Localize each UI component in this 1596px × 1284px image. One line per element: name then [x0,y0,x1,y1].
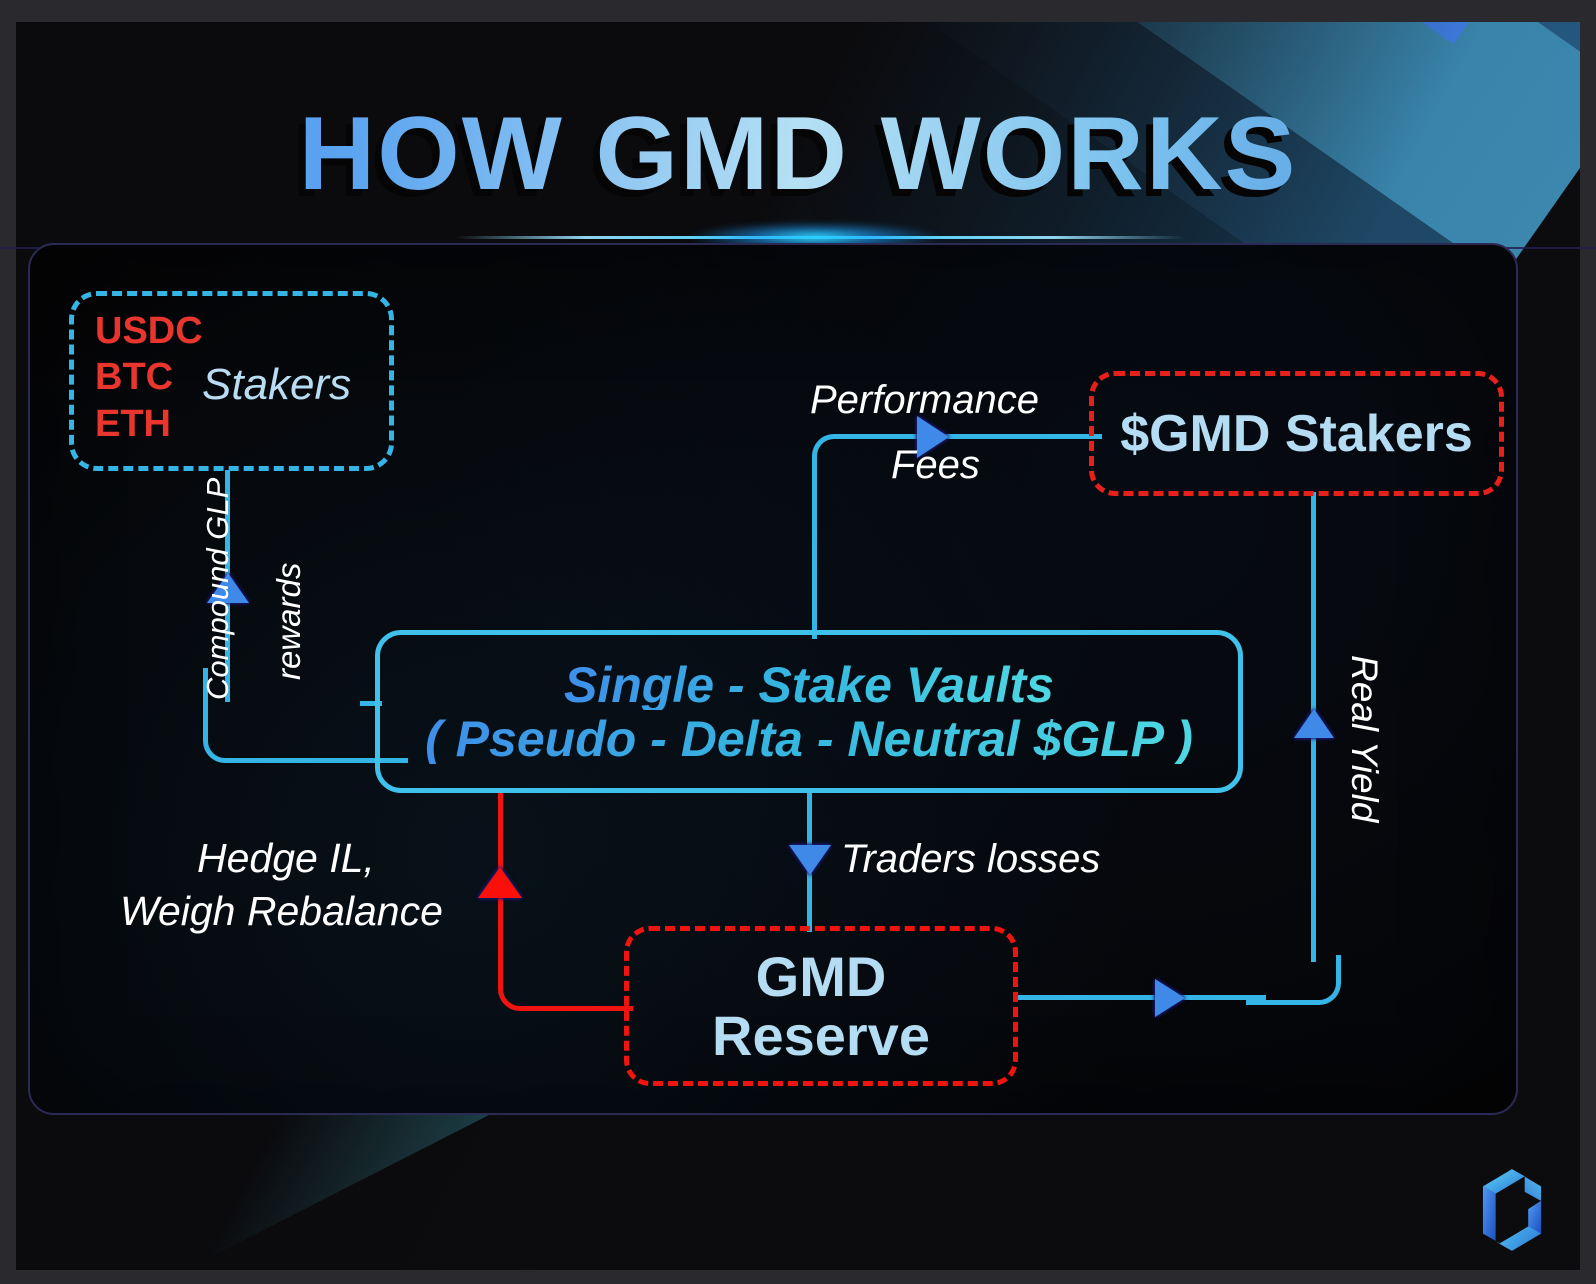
edge-hedge-il-corner [498,926,633,1011]
gmd-stakers-label: $GMD Stakers [1120,404,1473,464]
vault-label-line1: Single - Stake Vaults [564,660,1054,710]
edge-label-compound-glp: Compound GLP [200,478,236,700]
vault-label-line2: ( Pseudo - Delta - Neutral $GLP ) [425,714,1193,764]
node-gmd-stakers[interactable]: $GMD Stakers [1089,371,1504,496]
page-title: HOW GMD WORKS [0,95,1596,214]
edge-label-weigh-rebalance: Weigh Rebalance [120,888,443,935]
arrow-up-real-yield [1294,709,1334,738]
frame-top [0,0,1596,22]
token-btc: BTC [95,354,203,400]
node-single-stake-vaults[interactable]: Single - Stake Vaults ( Pseudo - Delta -… [375,630,1243,793]
edge-label-fees: Fees [891,443,980,488]
frame-bottom [0,1270,1596,1284]
edge-real-yield-corner [1246,955,1341,1005]
stakers-token-list: USDC BTC ETH [95,308,203,447]
edge-performance-fees-horizontal [880,434,1102,439]
token-eth: ETH [95,401,203,447]
node-gmd-reserve[interactable]: GMD Reserve [624,926,1018,1086]
arrow-right-real-yield [1155,979,1185,1017]
gmd-hexagon-logo [1466,1161,1558,1259]
token-usdc: USDC [95,308,203,354]
edge-real-yield-horizontal [1013,995,1266,1000]
infographic-root: HOW GMD WORKS HOW GMD WORKS Compound GLP… [0,0,1596,1284]
stakers-label: Stakers [202,360,351,410]
edge-label-traders-losses: Traders losses [841,837,1100,882]
arrow-up-hedge-il [478,867,522,898]
reserve-label-line1: GMD [756,947,887,1006]
edge-label-real-yield: Real Yield [1343,655,1385,822]
edge-label-rewards: rewards [270,563,308,680]
reserve-label-line2: Reserve [712,1006,930,1065]
edge-label-hedge-il: Hedge IL, [197,835,375,882]
arrow-down-traders-losses [789,845,831,875]
edge-label-performance: Performance [810,378,1039,423]
